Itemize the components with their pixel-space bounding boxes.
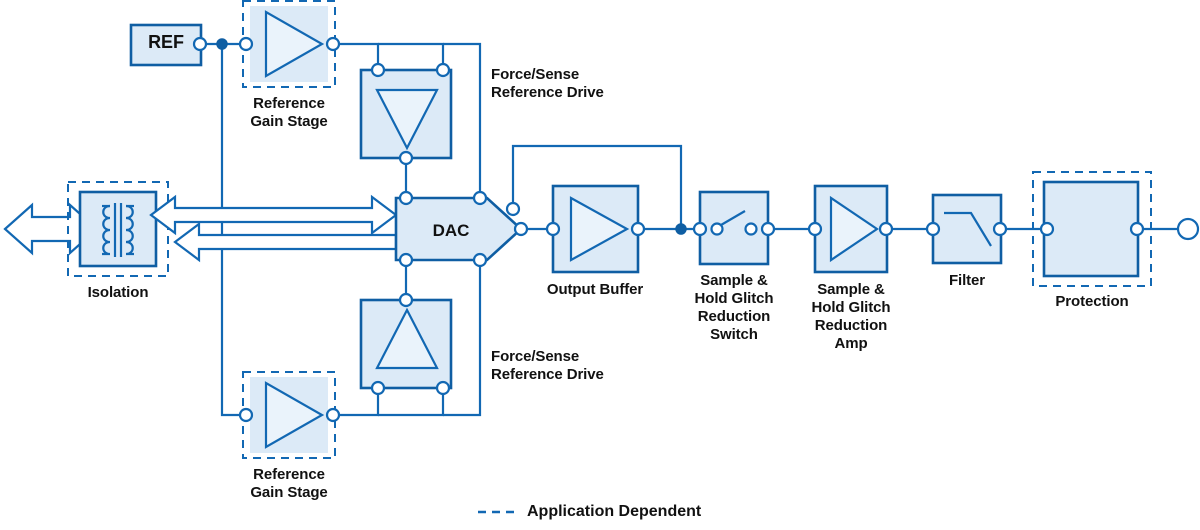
filter-label: Filter <box>917 272 1017 290</box>
dac-block[interactable]: DAC <box>396 198 521 260</box>
sample-hold-amp-label: Sample & Hold Glitch Reduction Amp <box>795 281 907 353</box>
dac-label: DAC <box>433 221 470 240</box>
block-diagram-canvas: .wire{stroke:#1268b3;stroke-width:2.2;fi… <box>0 0 1200 530</box>
isolation-block[interactable] <box>68 182 168 276</box>
sample-hold-switch-label: Sample & Hold Glitch Reduction Switch <box>678 272 790 344</box>
force-sense-bottom-label: Force/Sense Reference Drive <box>491 348 691 384</box>
filter-block[interactable] <box>933 195 1001 263</box>
reference-gain-stage-top-label: Reference Gain Stage <box>224 95 354 131</box>
sample-hold-amp-block[interactable] <box>815 186 887 272</box>
reference-gain-stage-bottom-block[interactable] <box>243 372 335 458</box>
force-sense-reference-drive-top-block[interactable] <box>361 70 451 158</box>
output-buffer-block[interactable] <box>553 186 638 272</box>
output-buffer-label: Output Buffer <box>525 281 665 299</box>
isolation-to-dac-arrows <box>151 197 396 260</box>
ref-label: REF <box>131 33 201 51</box>
force-sense-top-label: Force/Sense Reference Drive <box>491 66 691 102</box>
reference-gain-stage-bottom-label: Reference Gain Stage <box>224 466 354 502</box>
legend-label: Application Dependent <box>527 503 701 521</box>
protection-label: Protection <box>1032 293 1152 311</box>
reference-gain-stage-top-block[interactable] <box>243 1 335 87</box>
isolation-label: Isolation <box>58 284 178 302</box>
sample-hold-switch-block[interactable] <box>700 192 768 264</box>
force-sense-reference-drive-bottom-block[interactable] <box>361 300 451 388</box>
